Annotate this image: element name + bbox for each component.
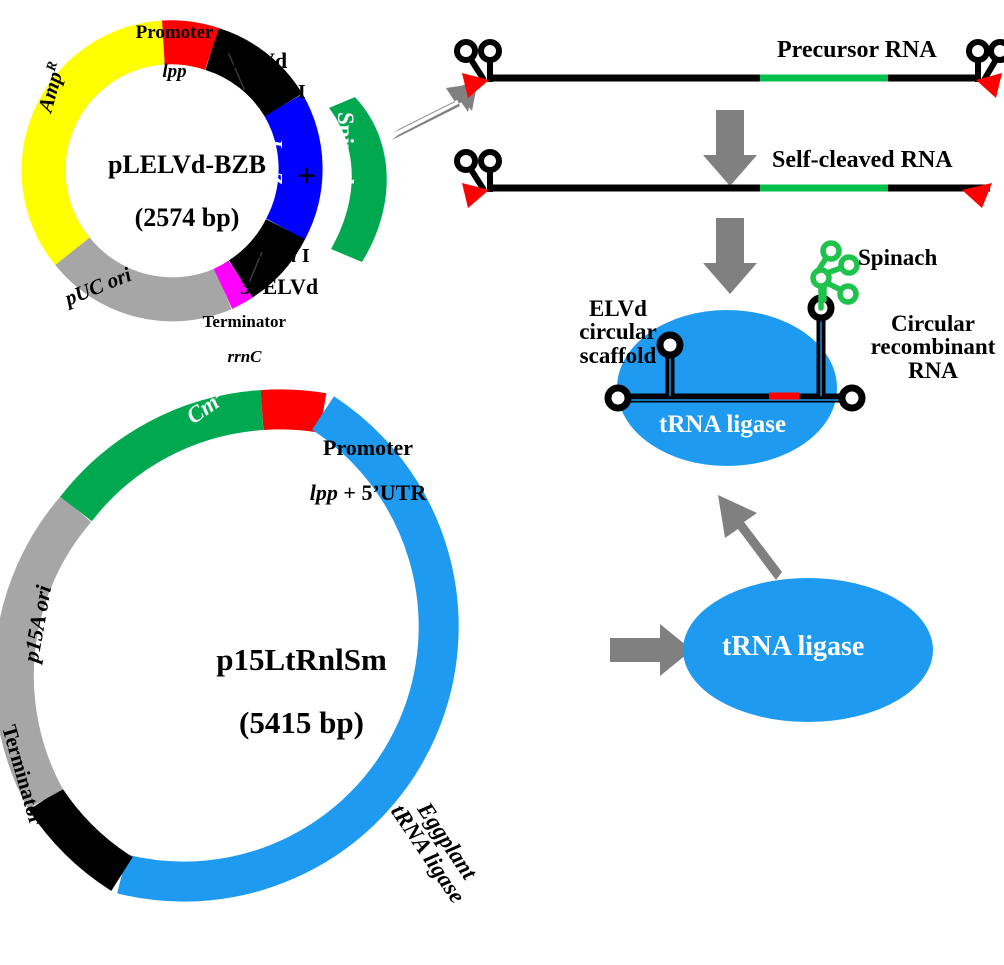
label-spinach-insert: Spinach [334,112,357,191]
label-self-cleaved-rna: Self-cleaved RNA [772,148,953,172]
segment2-promoter-lpp-5utr [262,409,323,413]
label-elvd-circular-scaffold: ELVdcircularscaffold [548,297,688,367]
circrna-right-node [842,388,862,408]
label-5prime-ELVd: 5' ELVd [209,50,287,72]
label-bpiI-top: –Bpi I [254,82,306,102]
segment-terminator-rrnC [223,279,241,289]
label-plus-sign: + [297,160,316,195]
label-promoter-lpp-5utr: Promoter lpp + 5’UTR [256,415,458,527]
ribozyme-right-precursor [969,42,1004,98]
plasmid2-name-block: p15LtRnlSm (5415 bp) [168,612,404,770]
label-LacZ: LacZ [264,139,285,184]
plasmid1-name-block: pLELVd-BZB (2574 bp) [57,125,291,258]
label-trna-ligase-product: tRNA ligase [722,633,864,662]
figure-canvas: Promoter lpp 5' ELVd –Bpi I –Bpi I 3' EL… [0,0,1004,965]
spinach-aptamer-icon [813,243,857,308]
ribozyme-left-selfcleaved [457,152,499,208]
arrow-plasmid2-to-ligase [610,624,692,676]
label-precursor-rna: Precursor RNA [777,38,937,62]
label-circular-recombinant-rna: CircularrecombinantRNA [862,312,1004,382]
label-terminator-rrnC: Terminator rrnC [176,296,296,383]
circrna-left-node [608,388,628,408]
arrow-selfcleaved-to-circular [703,218,757,294]
label-spinach-aptamer: Spinach [858,246,937,269]
arrow-to-precursor-rna [392,80,478,140]
arrow-precursor-to-selfcleaved [703,110,757,186]
arrow-ligase-to-circular-rna [718,495,782,580]
label-trna-ligase-top: tRNA ligase [659,412,786,438]
